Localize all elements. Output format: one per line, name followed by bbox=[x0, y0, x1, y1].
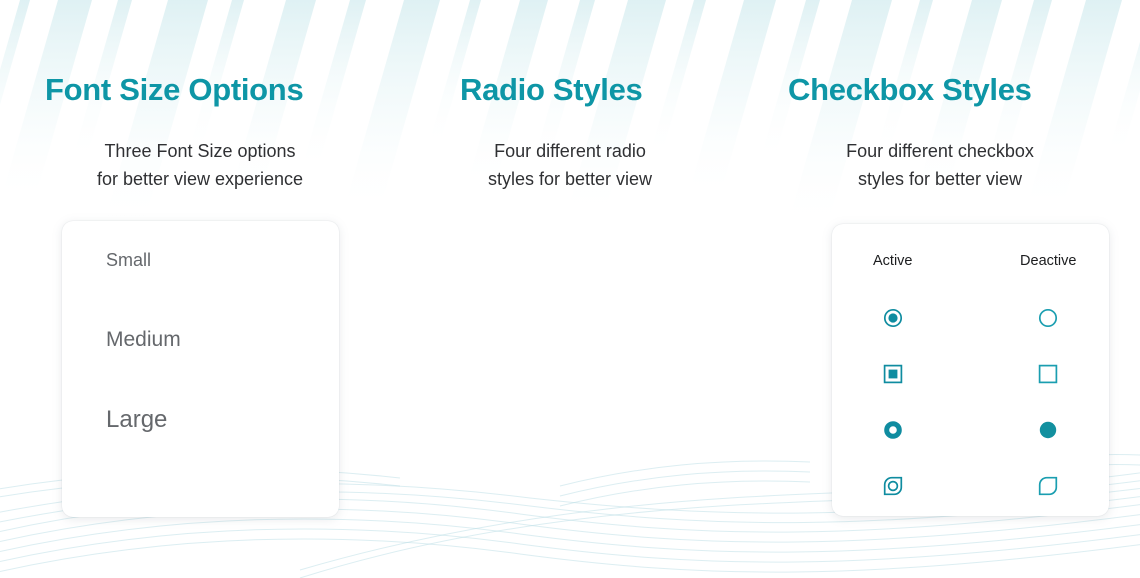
radio-deactive-cell bbox=[972, 420, 1110, 440]
radio-donut-icon[interactable] bbox=[883, 420, 903, 440]
radio-active-cell bbox=[832, 420, 972, 440]
column-subtitle: Three Font Size options for better view … bbox=[0, 138, 400, 194]
radio-row bbox=[832, 346, 1109, 402]
radio-row bbox=[832, 458, 1109, 514]
radio-active-cell bbox=[832, 476, 972, 496]
radio-styles-card: Active Deactive bbox=[832, 224, 1109, 516]
radio-deactive-cell bbox=[972, 308, 1110, 328]
radio-rows bbox=[832, 290, 1109, 514]
font-size-option-large[interactable]: Large bbox=[106, 408, 181, 432]
font-size-option-medium[interactable]: Medium bbox=[106, 329, 181, 350]
radio-deactive-cell bbox=[972, 476, 1110, 496]
radio-column-headers: Active Deactive bbox=[832, 253, 1109, 269]
page-title: Font Size Options bbox=[45, 74, 303, 105]
page-title: Checkbox Styles bbox=[788, 74, 1032, 105]
radio-square-inner-icon[interactable] bbox=[883, 364, 903, 384]
radio-row bbox=[832, 290, 1109, 346]
radio-square-outline-icon[interactable] bbox=[1038, 364, 1058, 384]
header-active: Active bbox=[832, 253, 972, 269]
column-subtitle: Four different checkbox styles for bette… bbox=[740, 138, 1140, 194]
font-size-card: Small Medium Large bbox=[62, 221, 339, 517]
radio-deactive-cell bbox=[972, 364, 1110, 384]
font-size-list: Small Medium Large bbox=[106, 251, 181, 432]
radio-circle-outline-icon[interactable] bbox=[1038, 308, 1058, 328]
radio-leaf-ring-icon[interactable] bbox=[883, 476, 903, 496]
font-size-option-small[interactable]: Small bbox=[106, 251, 181, 269]
radio-circle-filled-icon[interactable] bbox=[1038, 420, 1058, 440]
radio-ring-dot-icon[interactable] bbox=[883, 308, 903, 328]
radio-row bbox=[832, 402, 1109, 458]
page-title: Radio Styles bbox=[460, 74, 642, 105]
page-content: Font Size Options Three Font Size option… bbox=[0, 0, 1140, 578]
header-deactive: Deactive bbox=[972, 253, 1110, 269]
radio-active-cell bbox=[832, 308, 972, 328]
column-subtitle: Four different radio styles for better v… bbox=[400, 138, 740, 194]
radio-active-cell bbox=[832, 364, 972, 384]
radio-leaf-outline-icon[interactable] bbox=[1038, 476, 1058, 496]
